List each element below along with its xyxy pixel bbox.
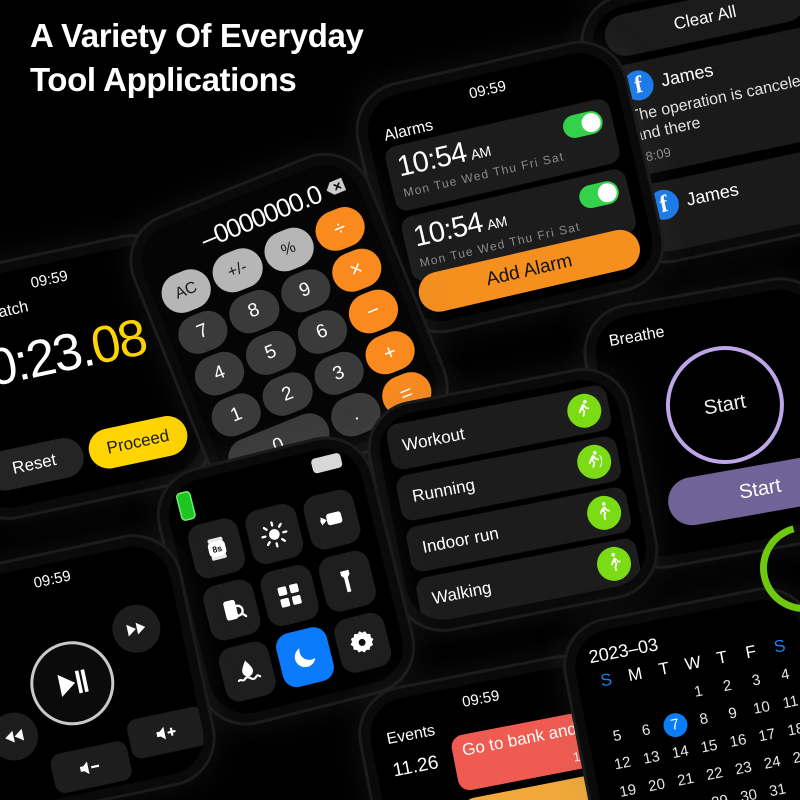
capsule-icon <box>310 452 343 474</box>
poster-canvas: A Variety Of Everyday Tool Applications … <box>0 0 800 800</box>
calendar-day[interactable]: 24 <box>756 750 789 777</box>
battery-icon <box>177 492 195 520</box>
outdoor-run-icon <box>574 442 614 482</box>
events-title: Events <box>385 722 436 749</box>
calendar-day[interactable]: 5 <box>601 723 634 750</box>
calendar-day[interactable]: 31 <box>761 777 794 800</box>
volume-down-icon[interactable] <box>49 740 134 795</box>
calendar-day[interactable]: 4 <box>769 662 800 689</box>
flashlight-icon[interactable] <box>316 548 379 614</box>
workout-screen: Workout Running Indoor run Walking <box>373 374 653 627</box>
page-title-line-1: A Variety Of Everyday <box>30 14 500 58</box>
control-center-grid: 8s <box>185 487 394 705</box>
workout-row-label: Indoor run <box>421 524 501 558</box>
calendar-day[interactable]: 14 <box>664 739 697 766</box>
stopwatch-controls: Reset Proceed <box>0 412 191 494</box>
proceed-button[interactable]: Proceed <box>85 412 191 472</box>
walking-icon <box>594 544 634 584</box>
calendar-day[interactable]: 19 <box>611 778 644 800</box>
calendar-day[interactable]: 23 <box>727 755 760 782</box>
calendar-blank-cell <box>595 695 628 722</box>
music-title: Music <box>0 605 2 631</box>
notification-sender: James <box>684 179 740 211</box>
page-title-line-2: Tool Applications <box>30 58 500 102</box>
calendar-screen: 2023–03 SMTWTFS 123456789101112131415161… <box>569 593 800 800</box>
calendar-weekday: F <box>735 640 768 665</box>
volume-up-icon[interactable] <box>125 705 210 760</box>
previous-track-icon[interactable] <box>0 708 43 765</box>
toggle-knob <box>596 181 619 204</box>
brightness-icon[interactable] <box>243 501 306 567</box>
calendar-day[interactable]: 30 <box>732 783 765 800</box>
calendar-day[interactable]: 16 <box>722 728 755 755</box>
status-time: 09:59 <box>0 547 168 612</box>
camera-icon[interactable] <box>200 577 263 643</box>
stopwatch-title: Stopwatch <box>0 298 30 331</box>
music-screen: 09:59 Music <box>0 539 211 800</box>
calendar-weekday: T <box>648 657 681 682</box>
calendar-day[interactable]: 12 <box>606 750 639 777</box>
indoor-run-icon <box>584 493 624 533</box>
calendar-day[interactable]: 8 <box>687 706 720 733</box>
stopwatch-elapsed-main: 00:23. <box>0 319 98 403</box>
next-track-icon[interactable] <box>108 600 165 657</box>
backspace-icon[interactable] <box>323 176 347 197</box>
calendar-blank-cell <box>653 684 686 711</box>
workout-watch-card: Workout Running Indoor run Walking <box>363 363 664 637</box>
calendar-day[interactable]: 9 <box>716 700 749 727</box>
calendar-day-selected[interactable]: 7 <box>659 712 692 739</box>
calendar-day[interactable]: 13 <box>635 745 668 772</box>
calendar-day[interactable]: 18 <box>779 717 800 744</box>
calendar-weekday: S <box>763 634 796 659</box>
runner-icon <box>564 391 604 431</box>
calendar-day[interactable]: 21 <box>669 767 702 794</box>
play-pause-icon[interactable] <box>22 633 122 733</box>
workout-row-label: Running <box>411 475 477 507</box>
breathe-title: Breathe <box>608 324 666 351</box>
calendar-day[interactable]: 15 <box>693 734 726 761</box>
calendar-day[interactable]: 3 <box>740 667 773 694</box>
settings-icon[interactable] <box>331 610 394 676</box>
watch-8s-icon[interactable]: 8s <box>185 515 248 581</box>
calendar-day[interactable]: 10 <box>745 695 778 722</box>
calendar-day[interactable]: 2 <box>711 673 744 700</box>
alarm-ampm: AM <box>485 213 508 233</box>
moon-icon[interactable] <box>273 624 336 690</box>
toggle-knob <box>580 111 603 134</box>
notification-sender: James <box>659 59 715 91</box>
stopwatch-elapsed-fraction: 08 <box>86 308 151 376</box>
calendar-day[interactable]: 29 <box>703 788 736 800</box>
calendar-blank-cell <box>624 690 657 717</box>
page-title: A Variety Of Everyday Tool Applications <box>30 14 500 101</box>
calendar-weekday: M <box>619 662 652 687</box>
event-date: 11.26 <box>391 752 440 782</box>
calendar-weekday: S <box>590 668 623 693</box>
calendar-day[interactable]: 22 <box>698 761 731 788</box>
water-lock-icon[interactable] <box>216 638 279 704</box>
calendar-watch-card: 2023–03 SMTWTFS 123456789101112131415161… <box>558 582 800 800</box>
alarm-ampm: AM <box>469 143 492 163</box>
stopwatch-elapsed: 00:23.08 <box>0 302 174 404</box>
calendar-weekday: T <box>706 645 739 670</box>
calendar-day[interactable]: 6 <box>630 717 663 744</box>
reset-button[interactable]: Reset <box>0 434 87 494</box>
camera-remote-icon[interactable] <box>300 487 363 553</box>
calendar-day[interactable]: 20 <box>640 772 673 799</box>
calendar-day[interactable]: 17 <box>751 722 784 749</box>
workout-row-label: Walking <box>431 578 494 609</box>
apps-grid-icon[interactable] <box>258 562 321 628</box>
calendar-weekday: W <box>677 651 710 676</box>
workout-row-label: Workout <box>401 424 467 456</box>
calendar-day[interactable]: 11 <box>774 689 800 716</box>
breathe-ring-start-button[interactable]: Start <box>657 337 794 474</box>
calendar-day[interactable]: 1 <box>682 679 715 706</box>
